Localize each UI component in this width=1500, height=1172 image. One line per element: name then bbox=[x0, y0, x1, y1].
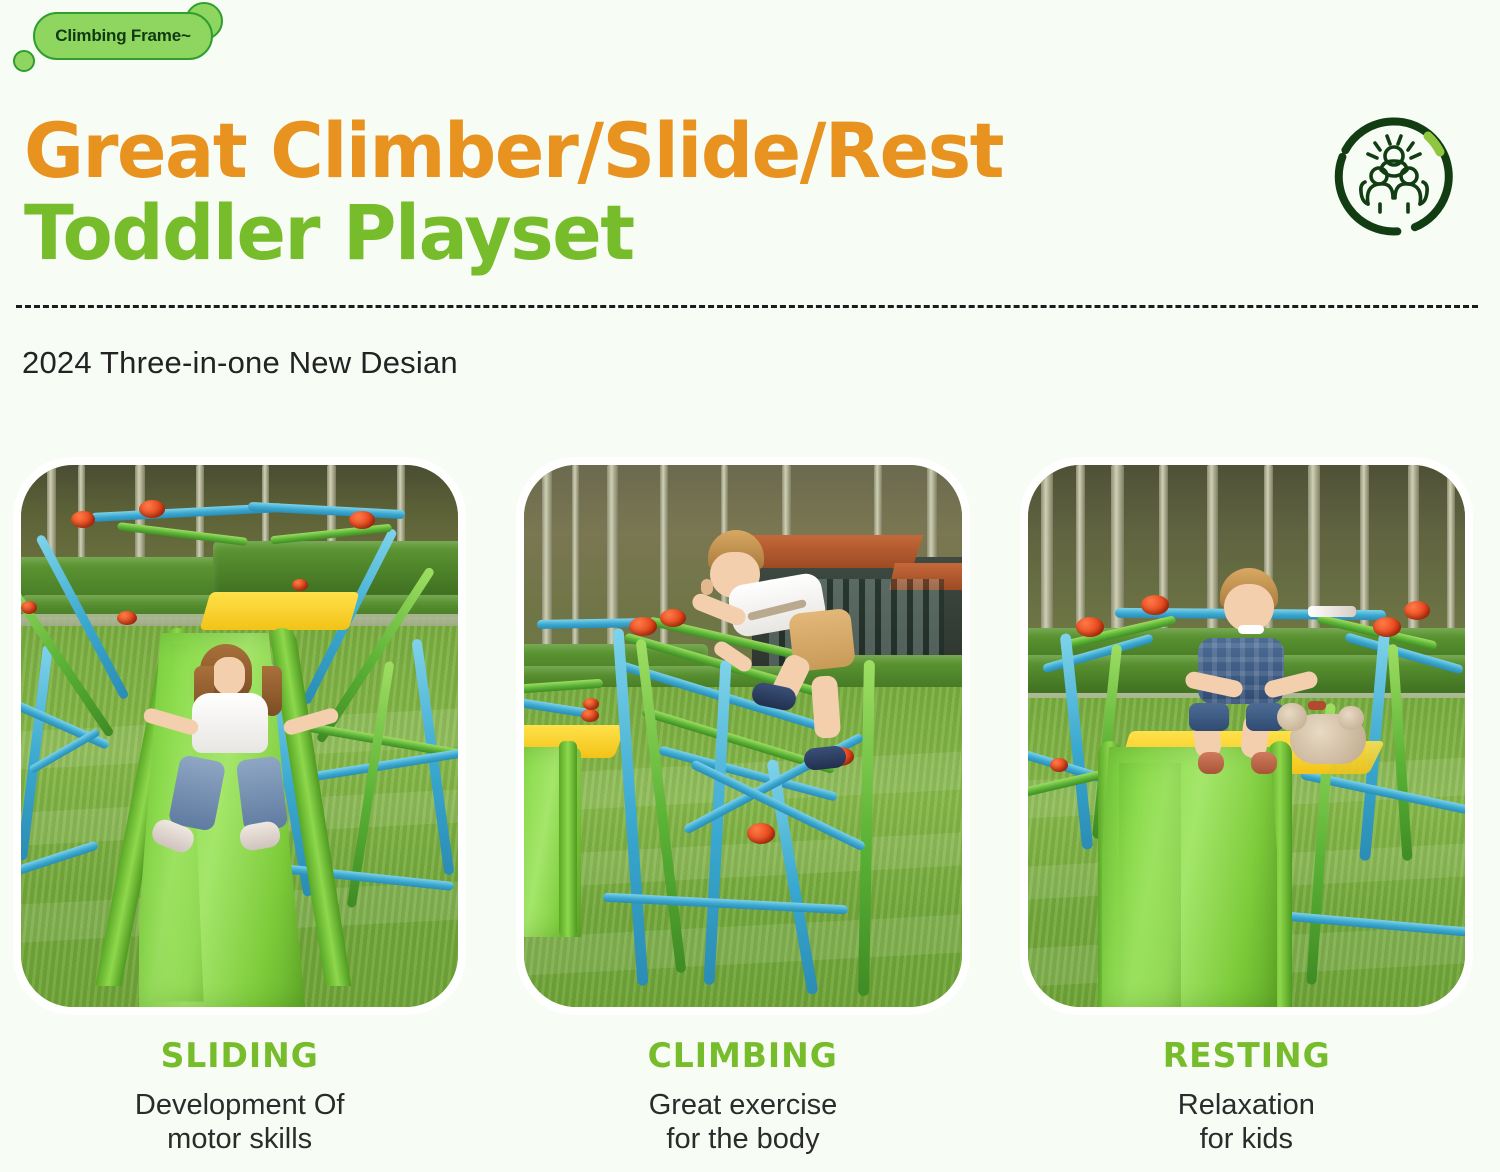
caption-text-line-2: for kids bbox=[1021, 1122, 1472, 1156]
caption-text-line-1: Great exercise bbox=[517, 1088, 968, 1122]
brand-pill-label: Climbing Frame~ bbox=[55, 26, 190, 46]
caption-climbing: CLIMBING Great exercise for the body bbox=[517, 1036, 968, 1156]
photo-sliding bbox=[21, 465, 458, 1007]
caption-text-line-2: for the body bbox=[517, 1122, 968, 1156]
caption-resting: RESTING Relaxation for kids bbox=[1021, 1036, 1472, 1156]
section-divider bbox=[16, 305, 1478, 308]
panel-climbing[interactable] bbox=[517, 458, 968, 1014]
feature-captions: SLIDING Development Of motor skills CLIM… bbox=[14, 1036, 1472, 1156]
brand-pill: Climbing Frame~ bbox=[33, 12, 213, 60]
caption-text-line-1: Relaxation bbox=[1021, 1088, 1472, 1122]
subtitle: 2024 Three-in-one New Desian bbox=[22, 345, 458, 381]
panel-resting[interactable] bbox=[1021, 458, 1472, 1014]
headline-line-1: Great Climber/Slide/Rest bbox=[24, 110, 1214, 192]
caption-title-resting: RESTING bbox=[1027, 1036, 1465, 1076]
feature-panels bbox=[14, 458, 1472, 1014]
caption-text-climbing: Great exercise for the body bbox=[517, 1088, 968, 1156]
brand-badge: Climbing Frame~ bbox=[0, 0, 240, 80]
badge-decor-circle-bottom-left bbox=[13, 50, 35, 72]
panel-sliding[interactable] bbox=[14, 458, 465, 1014]
kids-celebration-ring-logo-icon bbox=[1330, 112, 1458, 240]
caption-sliding: SLIDING Development Of motor skills bbox=[14, 1036, 465, 1156]
page-title: Great Climber/Slide/Rest Toddler Playset bbox=[24, 110, 1264, 274]
caption-text-line-1: Development Of bbox=[14, 1088, 465, 1122]
caption-text-line-2: motor skills bbox=[14, 1122, 465, 1156]
headline-line-2: Toddler Playset bbox=[24, 192, 1214, 274]
photo-climbing bbox=[524, 465, 961, 1007]
caption-text-resting: Relaxation for kids bbox=[1021, 1088, 1472, 1156]
caption-title-climbing: CLIMBING bbox=[524, 1036, 962, 1076]
caption-text-sliding: Development Of motor skills bbox=[14, 1088, 465, 1156]
photo-resting bbox=[1028, 465, 1465, 1007]
caption-title-sliding: SLIDING bbox=[21, 1036, 459, 1076]
